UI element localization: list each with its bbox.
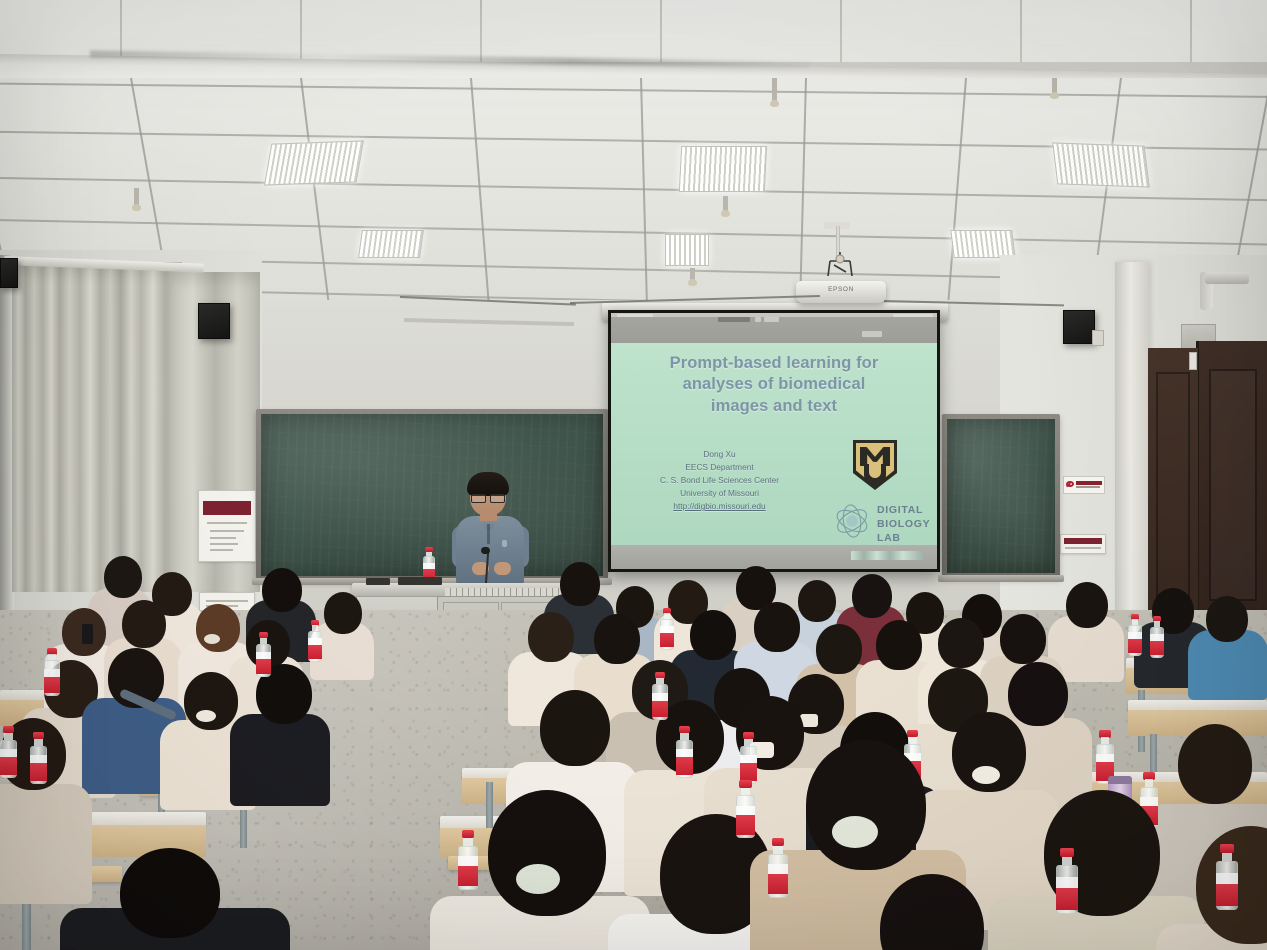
water-bottle bbox=[660, 608, 674, 650]
slide-author-block: Dong Xu EECS Department C. S. Bond Life … bbox=[617, 448, 822, 513]
podium-control-panel[interactable] bbox=[445, 588, 563, 596]
water-bottle bbox=[740, 732, 757, 784]
sprinkler-head bbox=[1052, 78, 1057, 94]
atom-icon bbox=[833, 502, 871, 540]
ac-pipe bbox=[1205, 272, 1249, 284]
digital-biology-lab-logo: DIGITAL BIOLOGY LAB bbox=[833, 501, 937, 541]
slide-lab-url[interactable]: http://digbio.missouri.edu bbox=[617, 500, 822, 513]
presenter-hand bbox=[494, 562, 511, 575]
title-slide: Prompt-based learning for analyses of bi… bbox=[611, 343, 937, 545]
podium-device bbox=[398, 577, 442, 585]
water-bottle bbox=[676, 726, 693, 778]
dbl-line1: DIGITAL bbox=[877, 504, 937, 518]
lecture-hall-photo: Prompt-based learning for analyses of bi… bbox=[0, 0, 1267, 950]
hair-tie bbox=[204, 634, 220, 644]
sprinkler-head bbox=[134, 188, 139, 206]
hair-scrunchie bbox=[516, 864, 560, 894]
ceiling-light-fixture bbox=[358, 230, 424, 258]
wall-pillar bbox=[1115, 262, 1149, 622]
ceiling-light-fixture bbox=[950, 230, 1015, 258]
chalk-tray-right bbox=[938, 575, 1064, 582]
slide-title: Prompt-based learning for analyses of bi… bbox=[619, 353, 929, 417]
presentation-toolbar[interactable] bbox=[611, 313, 937, 343]
blackboard-right bbox=[942, 414, 1060, 578]
presenter-shirt-placket bbox=[487, 524, 490, 544]
water-bottle bbox=[768, 838, 788, 898]
no-smoking-sign bbox=[1063, 476, 1105, 494]
wall-speaker-right bbox=[1063, 310, 1095, 344]
desk-leg bbox=[486, 782, 493, 828]
classroom-rules-sign bbox=[1060, 534, 1106, 554]
projection-screen: Prompt-based learning for analyses of bi… bbox=[608, 310, 940, 572]
ceiling-light-fixture bbox=[264, 140, 364, 185]
ceiling-light-fixture bbox=[1052, 142, 1150, 187]
dbl-line2: BIOLOGY LAB bbox=[877, 518, 937, 546]
water-bottle bbox=[736, 780, 755, 838]
mizzou-mu-logo-icon bbox=[853, 440, 897, 490]
speaker-bracket bbox=[1092, 330, 1104, 346]
podium-device bbox=[366, 578, 390, 585]
ceiling-light-fixture bbox=[679, 146, 767, 192]
hair-scrunchie bbox=[832, 816, 878, 848]
wall-speaker-left bbox=[198, 303, 230, 339]
smartphone[interactable] bbox=[82, 624, 93, 644]
footer-logo bbox=[851, 551, 923, 560]
slide-university: University of Missouri bbox=[617, 487, 822, 500]
classroom-notice-poster bbox=[198, 490, 256, 562]
epson-projector: EPSON bbox=[796, 281, 886, 303]
water-bottle bbox=[1056, 848, 1078, 914]
slide-center: C. S. Bond Life Sciences Center bbox=[617, 474, 822, 487]
presenter-shirt-logo bbox=[502, 540, 507, 547]
presenter-glasses bbox=[471, 494, 505, 501]
water-bottle bbox=[256, 632, 271, 677]
projector-brand-label: EPSON bbox=[796, 286, 886, 293]
projector-mount-bracket bbox=[826, 252, 854, 282]
water-bottle bbox=[1128, 614, 1142, 656]
water-bottle bbox=[30, 732, 47, 784]
hair-tie bbox=[972, 766, 1000, 784]
wall-speaker-corner bbox=[0, 258, 18, 288]
microphone[interactable] bbox=[481, 547, 490, 554]
water-bottle bbox=[1216, 844, 1238, 910]
sprinkler-head bbox=[690, 268, 695, 281]
sprinkler-head bbox=[723, 196, 728, 212]
water-bottle bbox=[0, 726, 17, 778]
slide-footer-bar bbox=[611, 545, 937, 569]
slide-author-name: Dong Xu bbox=[617, 448, 822, 461]
presenter-hair bbox=[467, 472, 509, 496]
water-bottle bbox=[44, 648, 60, 696]
ceiling-light-fixture bbox=[665, 234, 709, 266]
window-curtain bbox=[12, 262, 182, 592]
water-bottle bbox=[1150, 616, 1164, 658]
water-bottle bbox=[458, 830, 478, 890]
door-lock-plate[interactable] bbox=[1189, 352, 1197, 370]
slide-department: EECS Department bbox=[617, 461, 822, 474]
hair-tie bbox=[196, 710, 216, 722]
water-bottle bbox=[308, 620, 322, 662]
sprinkler-head bbox=[772, 78, 777, 102]
water-bottle bbox=[652, 672, 668, 720]
